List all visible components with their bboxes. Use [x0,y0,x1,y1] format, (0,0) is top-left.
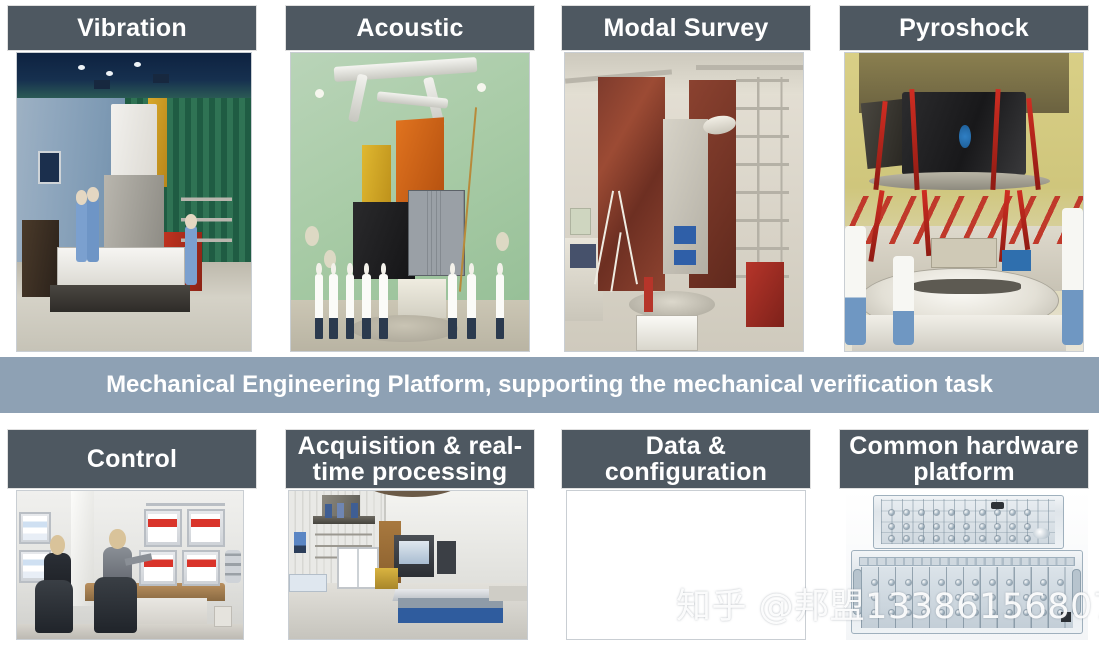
photo-control [16,490,244,640]
photo-acquisition [288,490,528,640]
panel-control: Control [8,430,256,647]
panel-common-hardware: Common hardware platform [840,430,1088,647]
panel-title-control: Control [8,430,256,488]
panel-modal-survey: Modal Survey [562,6,810,352]
panel-data-configuration: Data & configuration [562,430,810,647]
panel-title-modal-survey: Modal Survey [562,6,810,50]
photo-pyroshock [844,52,1084,352]
platform-banner-text: Mechanical Engineering Platform, support… [106,371,993,399]
photo-modal-survey [564,52,804,352]
panel-title-vibration: Vibration [8,6,256,50]
panel-title-pyroshock: Pyroshock [840,6,1088,50]
panel-title-acoustic: Acoustic [286,6,534,50]
panel-acoustic: Acoustic [286,6,534,352]
photo-vibration [16,52,252,352]
slide-canvas: Vibration [0,0,1099,647]
photo-common-hardware [846,490,1088,640]
panel-title-common-hardware: Common hardware platform [840,430,1088,488]
panel-title-data-configuration: Data & configuration [562,430,810,488]
photo-acoustic [290,52,530,352]
platform-banner: Mechanical Engineering Platform, support… [0,357,1099,413]
panel-acquisition: Acquisition & real-time processing [286,430,534,647]
hardware-unit-lower [851,550,1083,634]
photo-data-configuration: Data Volume Rescue Metadata Accessibilit… [566,490,806,640]
panel-pyroshock: Pyroshock [840,6,1088,352]
panel-title-acquisition: Acquisition & real-time processing [286,430,534,488]
hardware-unit-upper [873,495,1064,549]
panel-vibration: Vibration [8,6,256,352]
